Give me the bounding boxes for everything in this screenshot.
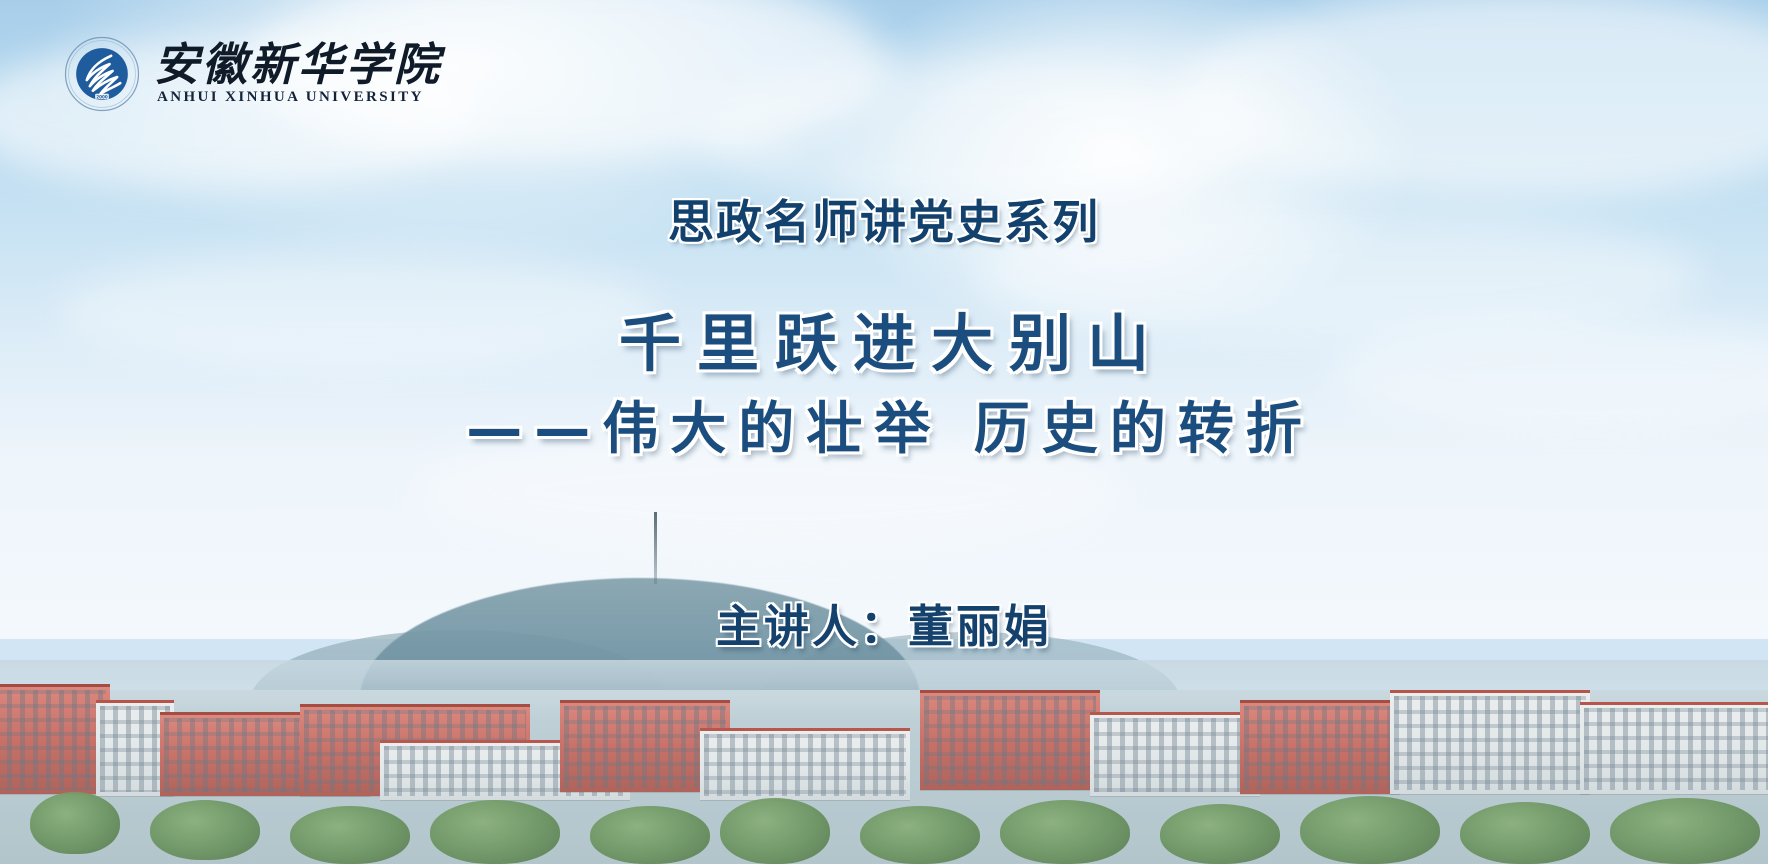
- tree: [720, 798, 830, 864]
- series-label: 思政名师讲党史系列: [0, 196, 1768, 249]
- campus-building: [920, 690, 1100, 790]
- tree: [1610, 798, 1760, 864]
- tree: [590, 806, 710, 864]
- tree: [430, 800, 560, 864]
- tree: [1000, 800, 1130, 864]
- tree: [1160, 804, 1280, 864]
- logo-english-name: ANHUI XINHUA UNIVERSITY: [154, 89, 442, 106]
- campus-building: [0, 684, 110, 794]
- campus-building: [1390, 690, 1590, 794]
- svg-text:2000: 2000: [96, 94, 108, 99]
- campus-building: [1580, 702, 1768, 794]
- lecture-title-slide: 2000 安徽新华学院 ANHUI XINHUA UNIVERSITY 思政名师…: [0, 0, 1768, 864]
- tree: [150, 800, 260, 860]
- campus-building: [700, 728, 910, 800]
- logo-chinese-name: 安徽新华学院: [154, 42, 442, 87]
- tree: [30, 792, 120, 854]
- hill-tower: [654, 512, 657, 584]
- lecture-title-line1: 千里跃进大别山: [0, 307, 1768, 380]
- tree: [1460, 802, 1590, 864]
- tree: [1300, 796, 1440, 864]
- university-logo: 2000 安徽新华学院 ANHUI XINHUA UNIVERSITY: [64, 36, 442, 112]
- campus-building: [1090, 712, 1260, 796]
- presenter-label: 主讲人：董丽娟: [0, 600, 1768, 654]
- tree: [290, 806, 410, 864]
- university-emblem-icon: 2000: [64, 36, 140, 112]
- cloud: [700, 60, 1260, 210]
- lecture-title-line2: ——伟大的壮举 历史的转折: [0, 396, 1768, 463]
- tree: [860, 806, 980, 864]
- campus-building: [1240, 700, 1400, 794]
- logo-wordmark: 安徽新华学院 ANHUI XINHUA UNIVERSITY: [154, 42, 442, 106]
